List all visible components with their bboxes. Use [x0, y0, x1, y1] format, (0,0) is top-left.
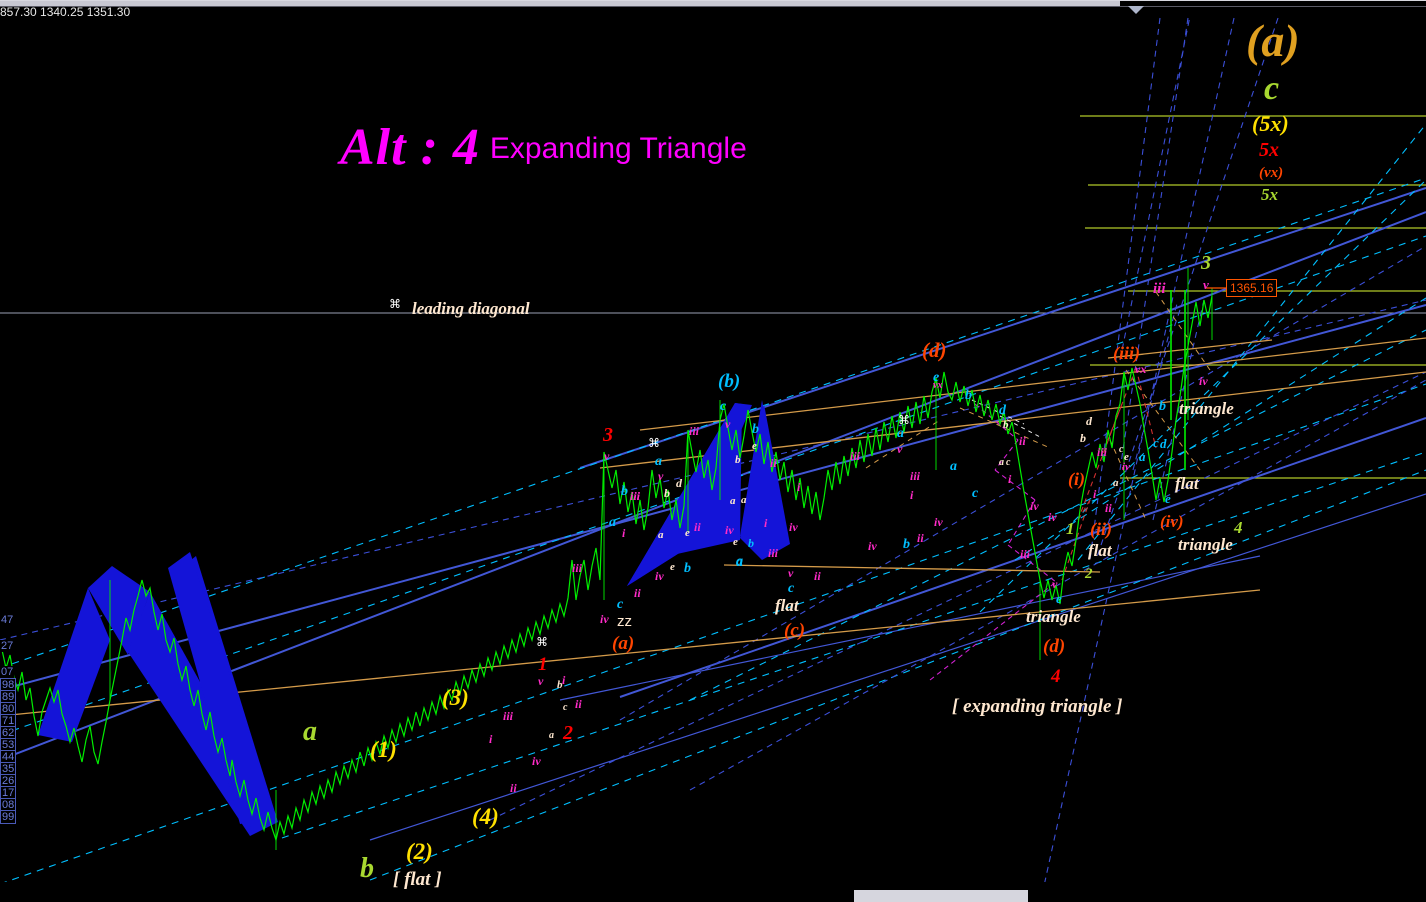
wave-label: iii	[1153, 282, 1166, 297]
wave-label: iii	[768, 547, 778, 559]
wave-label: i	[1093, 488, 1096, 500]
wave-label: leading diagonal	[412, 300, 530, 317]
wave-label: (iv)	[1160, 513, 1184, 530]
wave-label: v	[897, 443, 902, 455]
wave-label: ii	[1105, 502, 1112, 514]
wave-label: (b)	[718, 372, 740, 391]
wave-label: ii	[1019, 435, 1026, 447]
price-axis-tick[interactable]: 27	[0, 640, 14, 652]
wave-label: ii	[917, 532, 924, 544]
horizontal-scrollbar-top[interactable]	[0, 1, 1426, 6]
wave-label: ii	[814, 570, 821, 582]
wave-label: iv	[600, 613, 609, 625]
wave-label: v	[604, 450, 609, 462]
wave-label: vx	[1135, 363, 1146, 375]
wave-label: v	[538, 675, 543, 687]
wave-label: i	[797, 481, 800, 493]
wave-label: a	[303, 718, 317, 746]
wave-label: c	[1119, 445, 1123, 455]
wave-label: v	[658, 470, 663, 482]
wave-label: 1	[1066, 520, 1075, 537]
wave-label: a	[658, 530, 664, 541]
scrollbar-track-bottom[interactable]	[0, 890, 1426, 902]
wave-label: (2)	[406, 840, 433, 863]
wave-label: d	[1160, 437, 1167, 450]
wave-label: a	[741, 495, 747, 506]
wave-label: v	[788, 567, 793, 579]
wave-label: ii	[634, 587, 641, 599]
price-axis-tick[interactable]: 99	[0, 810, 16, 824]
chart-window: 857.30 1340.25 1351.30 Alt : 4Expanding …	[0, 0, 1426, 902]
wave-label: iv	[868, 540, 877, 552]
wave-label: flat	[775, 597, 799, 614]
wave-label: ii	[575, 698, 582, 710]
wave-label: c	[788, 582, 794, 596]
wave-label: (a)	[612, 634, 634, 653]
wave-label: iv	[532, 755, 541, 767]
wave-label: iii	[572, 562, 582, 574]
wave-label: v	[725, 418, 730, 430]
wave-label: c	[1006, 458, 1010, 468]
wave-label: a	[999, 458, 1004, 468]
wave-label: i	[1008, 473, 1011, 485]
wave-label: e	[1165, 492, 1171, 505]
wave-label: (vx)	[1259, 166, 1283, 181]
chart-title: Alt : 4Expanding Triangle	[340, 118, 747, 177]
wave-label: i	[910, 489, 913, 501]
wave-label: (5x)	[1252, 113, 1289, 135]
wave-label: a	[655, 455, 662, 469]
wave-label: i	[764, 517, 767, 529]
wave-label: i	[562, 674, 565, 686]
wave-label: (4)	[472, 805, 499, 828]
wave-label: iii	[503, 710, 513, 722]
wave-label: iv	[789, 521, 798, 533]
wave-label: iii	[850, 450, 860, 462]
title-primary: Alt : 4	[340, 119, 480, 176]
wave-label: triangle	[1178, 536, 1233, 553]
wave-label: 2	[563, 723, 573, 743]
wave-label: 4	[1234, 519, 1243, 536]
wave-label: (iii)	[1113, 344, 1140, 362]
wave-label: a	[736, 556, 743, 570]
wave-label: c	[1264, 72, 1279, 106]
price-header: 857.30 1340.25 1351.30	[0, 5, 130, 19]
wave-label: zz	[617, 614, 632, 629]
wave-label: iii	[1097, 446, 1107, 458]
wave-label: (i)	[1068, 470, 1085, 488]
last-price-tag[interactable]: 1365.16	[1226, 279, 1277, 297]
wave-label: b	[360, 855, 374, 883]
wave-label: [ flat ]	[393, 870, 442, 889]
wave-label: a	[1113, 478, 1119, 489]
wave-label: d	[999, 404, 1006, 418]
wave-label: i	[489, 733, 492, 745]
wave-label: a	[549, 731, 554, 741]
price-axis-tick[interactable]: 47	[0, 614, 14, 626]
wave-label: flat	[1088, 542, 1112, 559]
wave-label: iv	[655, 570, 664, 582]
wave-label: 3	[1201, 253, 1211, 273]
wave-label: a	[1139, 450, 1146, 463]
wave-label: c	[1153, 436, 1159, 449]
wave-label: [ expanding triangle ]	[952, 697, 1122, 716]
wave-label: vx	[933, 381, 942, 391]
wave-label: iii	[1020, 548, 1030, 560]
wave-label: triangle	[1179, 400, 1234, 417]
wave-label: e	[752, 441, 757, 452]
wave-label: a	[609, 516, 616, 530]
wave-label: iii	[689, 425, 699, 437]
wave-label: c	[617, 598, 623, 612]
wave-label: a	[730, 496, 736, 507]
wave-label: v	[1052, 578, 1057, 590]
cmd-icon: ⌘	[536, 636, 548, 648]
wave-label: (1)	[370, 738, 397, 761]
wave-label: e	[670, 562, 675, 573]
wave-label: triangle	[1026, 608, 1081, 625]
wave-label: b	[621, 485, 628, 499]
top-divider-2	[0, 6, 1426, 7]
wave-label: b	[752, 423, 759, 437]
wave-label: c	[563, 703, 567, 713]
wave-label: ii	[770, 457, 777, 469]
cmd-icon: ⌘	[898, 414, 910, 426]
wave-label: e	[733, 537, 738, 548]
wave-label: (3)	[442, 686, 469, 709]
wave-label: 1	[538, 655, 548, 674]
wave-label: c	[972, 487, 978, 501]
wave-label: e	[1056, 592, 1062, 605]
wave-label: v	[1203, 278, 1209, 291]
wave-label: (d)	[1043, 637, 1065, 656]
wave-label: iv	[1030, 500, 1039, 512]
cmd-icon: ⌘	[648, 437, 660, 449]
wave-label: iv	[934, 516, 943, 528]
wave-label: 2	[1085, 567, 1093, 582]
title-secondary: Expanding Triangle	[480, 132, 747, 165]
wave-label: 3	[603, 425, 613, 445]
cmd-icon: ⌘	[389, 298, 401, 310]
wave-label: i	[622, 527, 625, 539]
scrollbar-thumb-bottom[interactable]	[854, 890, 1028, 902]
wave-label: iv	[1048, 511, 1057, 523]
horizontal-scrollbar-bottom[interactable]	[0, 890, 1426, 902]
wave-label: b	[664, 487, 670, 499]
wave-label: b	[903, 538, 910, 552]
wave-label: iv	[1122, 462, 1130, 473]
wave-label: flat	[1175, 475, 1199, 492]
wave-label: (c)	[784, 621, 805, 640]
wave-label: d	[1086, 415, 1092, 427]
wave-label: ii	[694, 521, 701, 533]
wave-label: b	[748, 537, 754, 549]
wave-label: e	[685, 528, 690, 539]
wave-label: iii	[630, 490, 640, 502]
wave-label: c	[720, 400, 726, 414]
wave-label: (d)	[922, 340, 947, 361]
wave-label: ii	[510, 782, 517, 794]
scrollbar-thumb[interactable]	[0, 1, 1120, 6]
wave-label: iv	[725, 524, 734, 536]
wave-label: a	[950, 460, 957, 474]
wave-label: a	[897, 427, 904, 441]
wave-label: d	[676, 477, 682, 489]
wave-label: 5x	[1259, 140, 1279, 160]
wave-label: 4	[1051, 667, 1061, 686]
wave-label: 5x	[1261, 186, 1278, 203]
scroll-marker-icon	[1128, 6, 1144, 14]
wave-label: b	[735, 455, 741, 466]
wave-label: b	[1159, 400, 1166, 414]
wave-label: b	[1080, 432, 1086, 444]
wave-label: b	[684, 562, 691, 576]
wave-label: (a)	[1246, 18, 1300, 64]
wave-label: iv	[1199, 375, 1208, 387]
price-axis-tick[interactable]: 07	[0, 666, 14, 678]
wave-label: b	[965, 389, 972, 403]
wave-label: iii	[910, 470, 920, 482]
wave-label: b	[1003, 420, 1009, 431]
wave-label: (ii)	[1090, 520, 1112, 538]
